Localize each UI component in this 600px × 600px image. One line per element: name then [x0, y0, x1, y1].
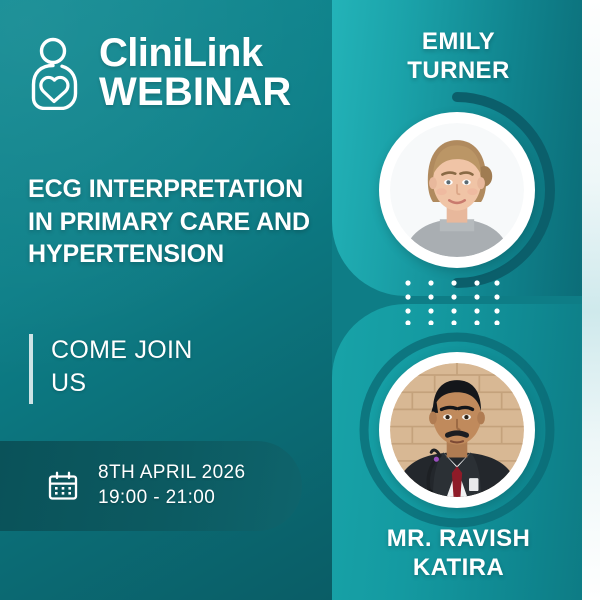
cta-line-2: US [51, 369, 86, 397]
person-heart-icon [28, 36, 86, 110]
accent-bar [29, 334, 33, 404]
speaker-1-photo [379, 112, 535, 268]
right-edge-accent [582, 0, 600, 600]
webinar-poster: CliniLink WEBINAR ECG INTERPRETATION IN … [0, 0, 600, 600]
speaker-1-first-name: EMILY [422, 28, 495, 55]
cta-line-1: COME JOIN [51, 336, 193, 364]
webinar-title: ECG INTERPRETATION IN PRIMARY CARE AND H… [28, 173, 324, 271]
event-date: 8TH APRIL 2026 [98, 461, 245, 486]
brand-logo-text: CliniLink WEBINAR [99, 34, 292, 112]
speaker-2-photo [379, 352, 535, 508]
event-details-card: 8TH APRIL 2026 19:00 - 21:00 [0, 441, 302, 531]
speaker-1-last-name: TURNER [407, 57, 509, 84]
speaker-2-first-name: MR. RAVISH [387, 525, 531, 552]
event-date-time: 8TH APRIL 2026 19:00 - 21:00 [98, 461, 245, 510]
brand-logo: CliniLink WEBINAR [28, 34, 292, 112]
calendar-icon [48, 471, 78, 501]
left-content-panel: CliniLink WEBINAR ECG INTERPRETATION IN … [0, 0, 332, 600]
speaker-2-name: MR. RAVISH KATIRA [332, 524, 585, 583]
event-time: 19:00 - 21:00 [98, 486, 245, 511]
speaker-2-last-name: KATIRA [413, 554, 504, 581]
call-to-action: COME JOIN US [29, 334, 193, 404]
cta-text: COME JOIN US [51, 334, 193, 399]
brand-name: CliniLink [99, 34, 292, 73]
dot-grid-decoration [404, 279, 500, 325]
brand-type: WEBINAR [99, 73, 292, 112]
speaker-1-name: EMILY TURNER [332, 27, 585, 86]
